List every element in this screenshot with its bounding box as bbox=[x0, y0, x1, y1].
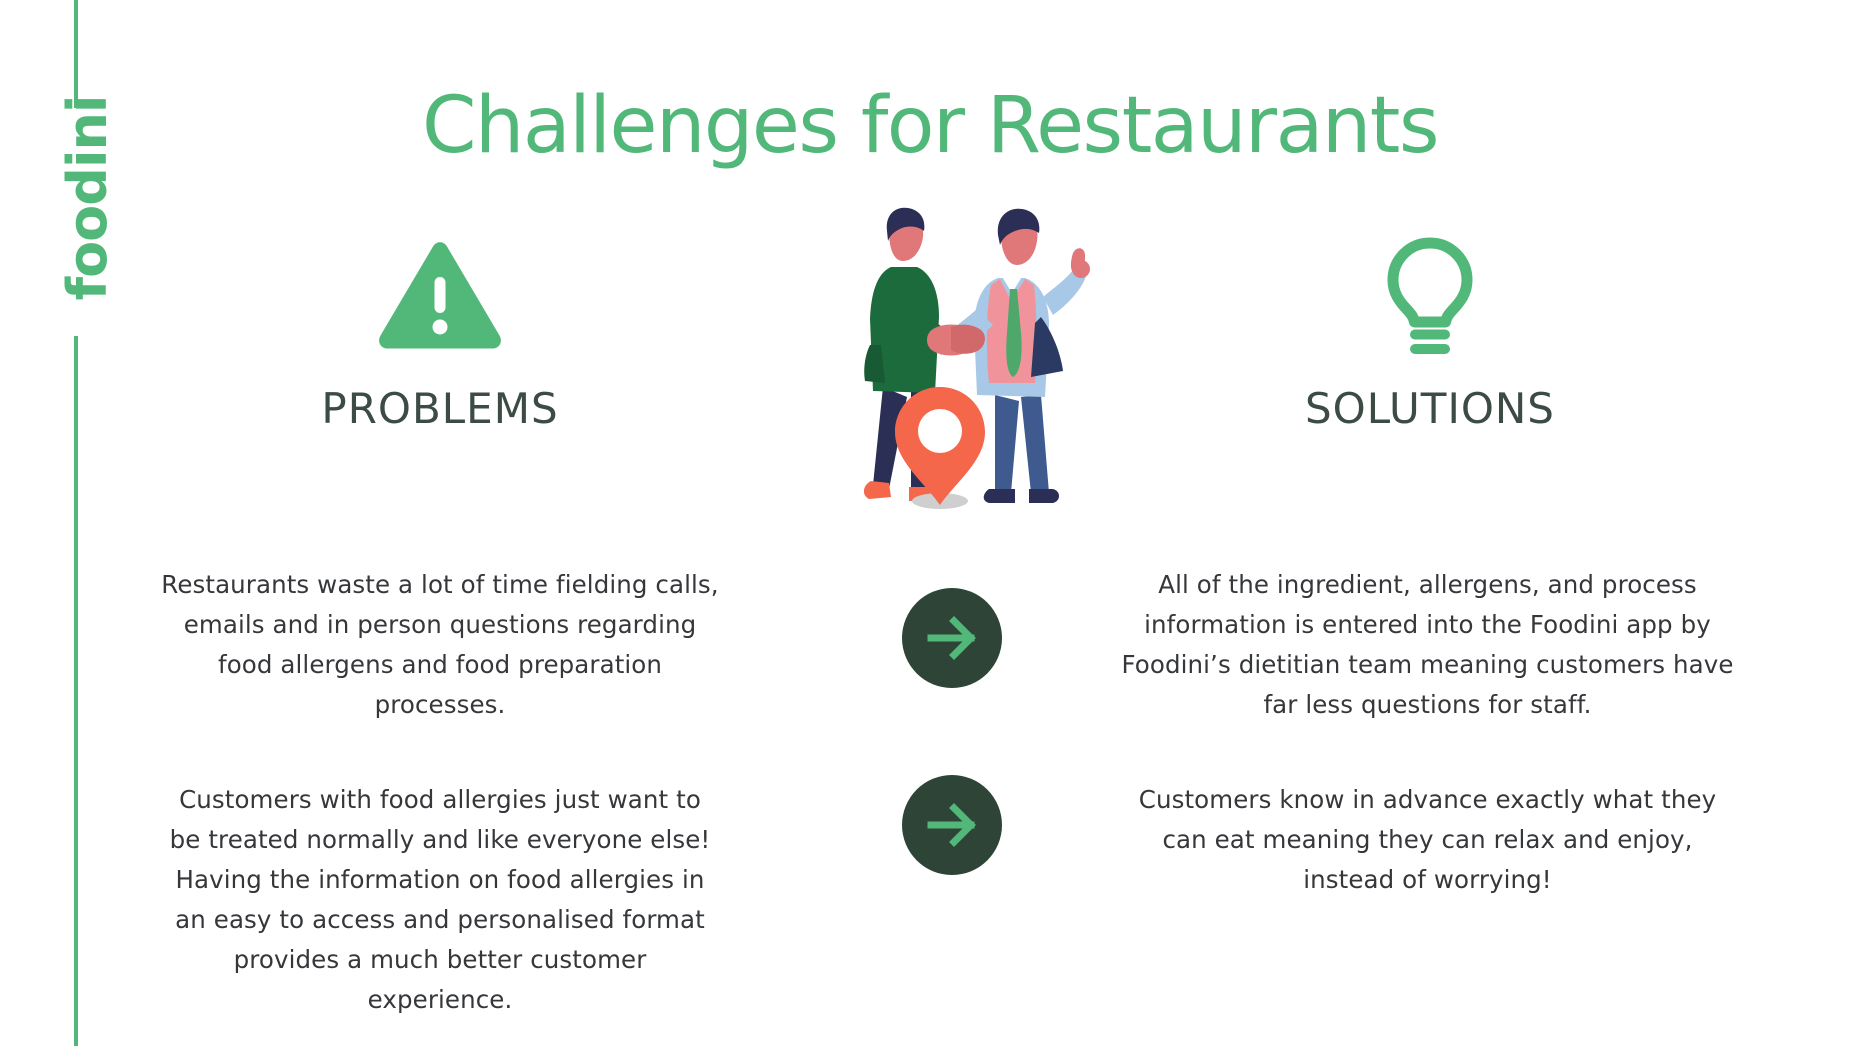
page-title: Challenges for Restaurants bbox=[180, 78, 1680, 174]
problem-text-2: Customers with food allergies just want … bbox=[160, 780, 720, 1020]
slide-canvas: foodini Challenges for Restaurants PROBL… bbox=[0, 0, 1860, 1046]
illustration-svg bbox=[855, 205, 1105, 535]
handshake-with-location-pin-illustration bbox=[855, 205, 1105, 535]
arrow-right-icon bbox=[924, 610, 980, 666]
brand-logo: foodini bbox=[58, 78, 118, 318]
warning-triangle-icon bbox=[377, 239, 503, 351]
arrow-badge-row-1[interactable] bbox=[902, 588, 1002, 688]
problems-heading: PROBLEMS bbox=[160, 384, 720, 434]
solution-text-2: Customers know in advance exactly what t… bbox=[1115, 780, 1740, 900]
warning-triangle-icon-wrap bbox=[160, 230, 720, 360]
arrow-badge-row-2[interactable] bbox=[902, 775, 1002, 875]
solutions-heading: SOLUTIONS bbox=[1120, 384, 1740, 434]
lightbulb-icon-wrap bbox=[1120, 230, 1740, 360]
problem-text-1: Restaurants waste a lot of time fielding… bbox=[160, 565, 720, 725]
problems-column: PROBLEMS bbox=[160, 230, 720, 434]
arrow-right-icon bbox=[924, 797, 980, 853]
brand-rail-line-bottom bbox=[74, 336, 78, 1046]
lightbulb-icon bbox=[1382, 235, 1478, 355]
solution-text-1: All of the ingredient, allergens, and pr… bbox=[1115, 565, 1740, 725]
solutions-column: SOLUTIONS bbox=[1120, 230, 1740, 434]
